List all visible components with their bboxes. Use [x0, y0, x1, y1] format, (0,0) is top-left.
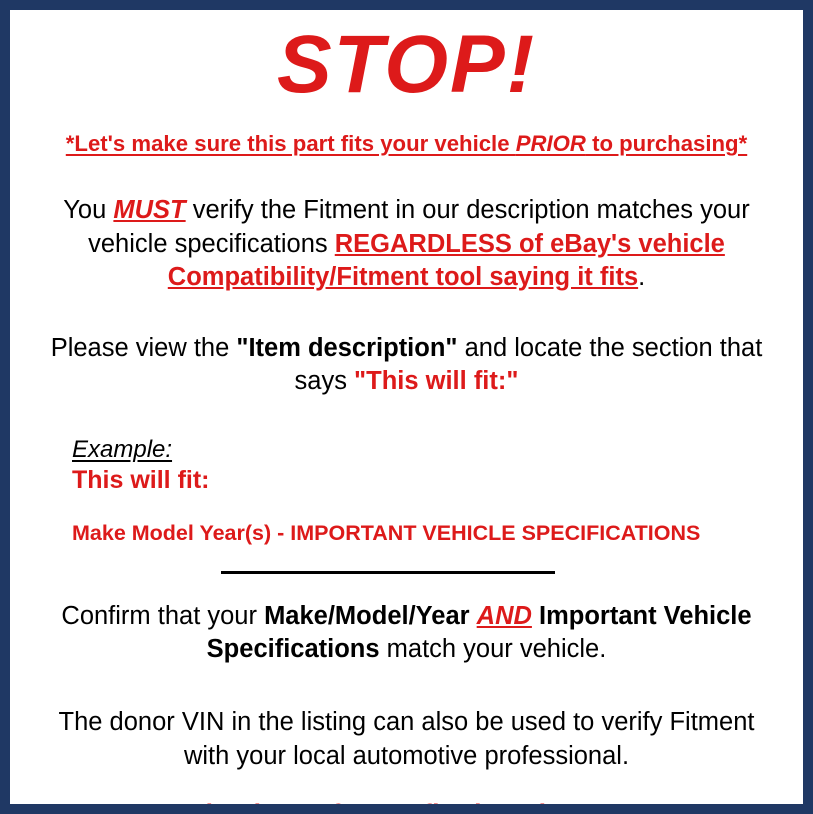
this-will-fit-emphasis: "This will fit:" [354, 367, 518, 395]
stop-heading: STOP! [24, 23, 789, 107]
must-emphasis: MUST [113, 196, 185, 224]
notice-content: STOP! *Let's make sure this part fits yo… [10, 23, 803, 814]
divider-rule [221, 571, 555, 574]
confirm-space1 [470, 602, 477, 630]
must-para-part3: . [638, 263, 645, 291]
must-verify-paragraph: You MUST verify the Fitment in our descr… [24, 194, 789, 293]
subtitle-suffix: to purchasing* [586, 131, 747, 156]
subtitle-line: *Let's make sure this part fits your veh… [30, 132, 784, 157]
confirm-part2: match your vehicle. [380, 635, 607, 663]
example-label: Example: [72, 436, 172, 464]
example-label-row: Example: [72, 436, 789, 464]
divider [24, 570, 789, 574]
vin-paragraph: The donor VIN in the listing can also be… [24, 706, 789, 772]
item-description-paragraph: Please view the "Item description" and l… [24, 332, 789, 398]
and-emphasis: AND [477, 602, 532, 630]
must-para-part1: You [63, 196, 113, 224]
confirm-part1: Confirm that your [61, 602, 264, 630]
confirm-paragraph: Confirm that your Make/Model/Year AND Im… [24, 600, 789, 666]
make-model-year-emphasis: Make/Model/Year [264, 602, 470, 630]
fitment-notice-card: STOP! *Let's make sure this part fits yo… [0, 0, 813, 814]
example-this-will-fit: This will fit: [72, 466, 789, 495]
confirm-space2 [532, 602, 539, 630]
itemdesc-part1: Please view the [51, 334, 237, 362]
subtitle-prefix: *Let's make sure this part fits your veh… [66, 131, 516, 156]
subtitle-prior-emphasis: PRIOR [516, 131, 586, 156]
item-description-emphasis: "Item description" [236, 334, 457, 362]
example-spec-line: Make Model Year(s) - IMPORTANT VEHICLE S… [72, 521, 789, 546]
thank-you-line: Thank you for confirming Fitment! [24, 799, 789, 814]
example-block: Example: This will fit: Make Model Year(… [24, 436, 789, 546]
